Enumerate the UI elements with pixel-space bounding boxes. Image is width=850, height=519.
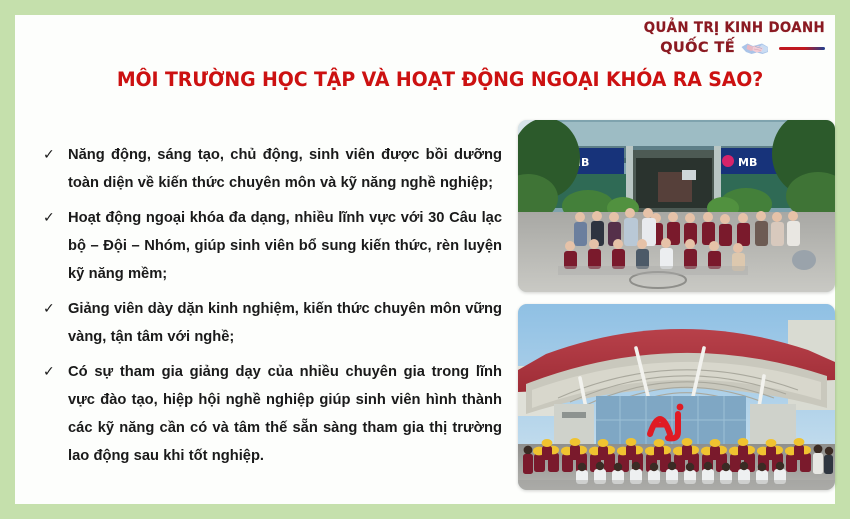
handshake-icon bbox=[740, 40, 774, 57]
logo-rule bbox=[779, 47, 825, 50]
photo-students-factory-visit bbox=[518, 304, 835, 490]
list-item-text: Giảng viên dày dặn kinh nghiệm, kiến thứ… bbox=[68, 295, 502, 351]
list-item-text: Hoạt động ngoại khóa đa dạng, nhiều lĩnh… bbox=[68, 204, 502, 288]
list-item-text: Năng động, sáng tạo, chủ động, sinh viên… bbox=[68, 141, 502, 197]
list-item: ✓ Hoạt động ngoại khóa đa dạng, nhiều lĩ… bbox=[42, 204, 502, 288]
check-icon: ✓ bbox=[43, 204, 55, 232]
list-item: ✓ Năng động, sáng tạo, chủ động, sinh vi… bbox=[42, 141, 502, 197]
logo-row-2: QUỐC TẾ bbox=[660, 40, 825, 57]
slide-panel: QUẢN TRỊ KINH DOANH QUỐC TẾ MÔI TRƯỜ bbox=[15, 15, 835, 504]
logo-line-2: QUỐC TẾ bbox=[660, 41, 735, 56]
photo-students-mb-building: MB MB bbox=[518, 120, 835, 292]
page-title: MÔI TRƯỜNG HỌC TẬP VÀ HOẠT ĐỘNG NGOẠI KH… bbox=[81, 68, 799, 91]
logo-line-1: QUẢN TRỊ KINH DOANH bbox=[644, 21, 825, 36]
check-icon: ✓ bbox=[43, 358, 55, 386]
brand-logo: QUẢN TRỊ KINH DOANH QUỐC TẾ bbox=[637, 19, 827, 69]
list-item-text: Có sự tham gia giảng dạy của nhiều chuyê… bbox=[68, 358, 502, 470]
check-icon: ✓ bbox=[43, 141, 55, 169]
list-item: ✓ Giảng viên dày dặn kinh nghiệm, kiến t… bbox=[42, 295, 502, 351]
svg-text:MB: MB bbox=[738, 156, 757, 169]
list-item: ✓ Có sự tham gia giảng dạy của nhiều chu… bbox=[42, 358, 502, 470]
check-icon: ✓ bbox=[43, 295, 55, 323]
bullet-list: ✓ Năng động, sáng tạo, chủ động, sinh vi… bbox=[42, 141, 502, 477]
slide-root: QUẢN TRỊ KINH DOANH QUỐC TẾ MÔI TRƯỜ bbox=[0, 0, 850, 519]
